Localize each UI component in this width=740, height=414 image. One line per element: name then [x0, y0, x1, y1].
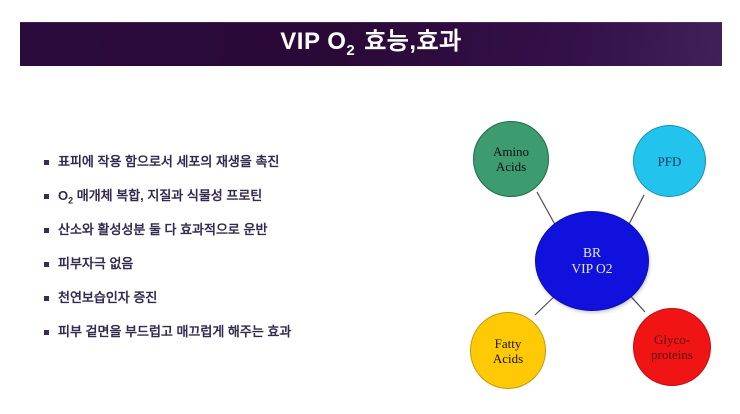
bullet-text-lead: O [58, 188, 68, 203]
bullet-text: 표피에 작용 함으로서 세포의 재생을 촉진 [58, 154, 279, 169]
slide-title-bar: VIP O2효능,효과 [20, 22, 722, 66]
benefits-bullet-list: 표피에 작용 함으로서 세포의 재생을 촉진 O2 매개체 복합, 지질과 식물… [44, 154, 444, 358]
node-label: Fatty Acids [493, 336, 523, 366]
bullet-text: 천연보습인자 증진 [58, 290, 157, 305]
list-item: O2 매개체 복합, 지질과 식물성 프로틴 [44, 188, 444, 205]
bullet-text: 피부 겉면을 부드럽고 매끄럽게 해주는 효과 [58, 324, 291, 339]
node-center-br-vip-o2[interactable]: BR VIP O2 [535, 211, 649, 311]
list-item: 표피에 작용 함으로서 세포의 재생을 촉진 [44, 154, 444, 171]
title-main: VIP O [280, 28, 346, 55]
list-item: 산소와 활성성분 둘 다 효과적으로 운반 [44, 222, 444, 239]
title-subscript: 2 [346, 42, 355, 59]
title-suffix: 효능,효과 [364, 28, 462, 55]
bullet-text: 피부자극 없음 [58, 256, 133, 271]
square-bullet-icon [44, 330, 49, 335]
square-bullet-icon [44, 160, 49, 165]
square-bullet-icon [44, 228, 49, 233]
square-bullet-icon [44, 296, 49, 301]
node-label: Glyco- proteins [651, 332, 693, 362]
bullet-text: 산소와 활성성분 둘 다 효과적으로 운반 [58, 222, 267, 237]
page-title: VIP O2효능,효과 [280, 30, 461, 58]
node-fatty-acids[interactable]: Fatty Acids [470, 312, 546, 389]
square-bullet-icon [44, 194, 49, 199]
node-label: Amino Acids [493, 144, 529, 174]
node-amino-acids[interactable]: Amino Acids [473, 121, 549, 197]
hub-and-spoke-diagram: Amino Acids PFD BR VIP O2 Fatty Acids Gl… [455, 100, 730, 400]
node-pfd[interactable]: PFD [633, 125, 706, 197]
node-label: BR VIP O2 [571, 245, 612, 277]
node-glycoproteins[interactable]: Glyco- proteins [633, 308, 711, 386]
bullet-text-rest: 매개체 복합, 지질과 식물성 프로틴 [73, 188, 262, 203]
list-item: 피부 겉면을 부드럽고 매끄럽게 해주는 효과 [44, 324, 444, 341]
node-label: PFD [658, 154, 682, 169]
square-bullet-icon [44, 262, 49, 267]
bullet-text: O2 매개체 복합, 지질과 식물성 프로틴 [58, 188, 262, 209]
slide-canvas: VIP O2효능,효과 표피에 작용 함으로서 세포의 재생을 촉진 O2 매개… [0, 0, 740, 414]
list-item: 피부자극 없음 [44, 256, 444, 273]
list-item: 천연보습인자 증진 [44, 290, 444, 307]
